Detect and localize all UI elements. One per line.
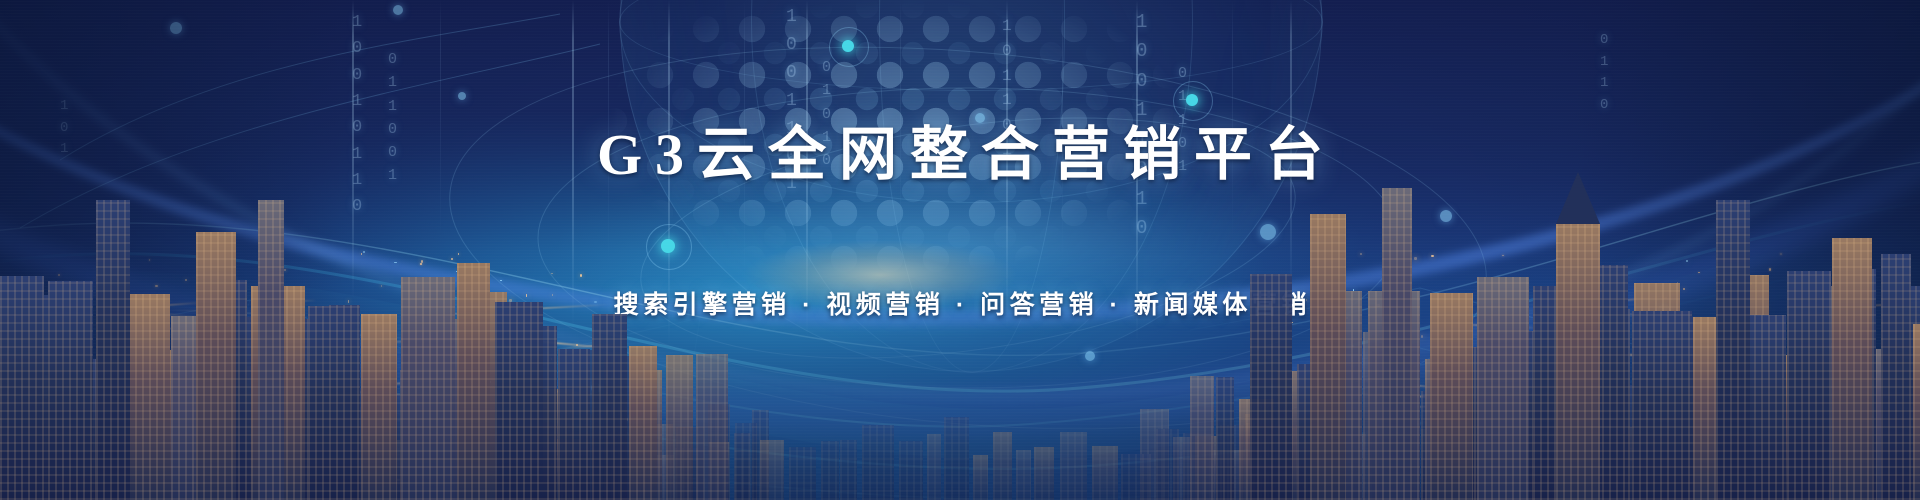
building-silhouette	[308, 306, 355, 500]
building-silhouette	[0, 276, 44, 500]
building-silhouette	[128, 294, 170, 500]
building-silhouette	[735, 423, 757, 500]
building-silhouette	[666, 355, 693, 500]
building-silhouette	[1092, 446, 1118, 500]
building-silhouette	[821, 441, 839, 500]
landmark-tower	[258, 200, 284, 500]
building-silhouette	[993, 432, 1012, 500]
building-silhouette	[927, 434, 941, 500]
landmark-tower	[1556, 224, 1600, 500]
building-silhouette	[1034, 447, 1054, 500]
building-silhouette	[457, 263, 490, 500]
landmark-tower	[1310, 214, 1346, 500]
building-silhouette	[1216, 377, 1234, 500]
building-silhouette	[760, 440, 784, 500]
building-silhouette	[1632, 311, 1692, 500]
building-silhouette	[1250, 274, 1292, 500]
building-silhouette	[558, 349, 590, 500]
building-silhouette	[899, 441, 923, 500]
landmark-tower	[1382, 188, 1412, 500]
building-silhouette	[1747, 315, 1786, 500]
hero-banner: 1 0 0 1 0 1 1 00 1 1 0 0 11 0 0 1 1 0 10…	[0, 0, 1920, 500]
building-silhouette	[840, 440, 857, 500]
landmark-tower	[96, 200, 130, 500]
building-silhouette	[1190, 376, 1214, 500]
building-silhouette	[1156, 429, 1179, 500]
building-silhouette	[1060, 432, 1087, 500]
building-silhouette	[973, 455, 988, 500]
spire-roof	[1556, 172, 1600, 224]
building-silhouette	[401, 277, 455, 500]
landmark-tower	[1716, 200, 1750, 500]
building-silhouette	[1881, 254, 1911, 500]
building-silhouette	[1016, 450, 1031, 500]
building-silhouette	[1430, 293, 1473, 500]
building-silhouette	[1913, 324, 1920, 500]
landmark-tower	[196, 232, 236, 500]
building-silhouette	[944, 417, 969, 500]
building-silhouette	[495, 302, 543, 500]
building-silhouette	[862, 425, 894, 500]
building-silhouette	[48, 281, 93, 500]
building-silhouette	[789, 447, 816, 500]
building-silhouette	[696, 354, 728, 500]
building-silhouette	[1477, 277, 1529, 500]
building-silhouette	[1121, 454, 1151, 500]
landmark-tower	[1832, 238, 1872, 500]
building-silhouette	[361, 314, 397, 500]
building-silhouette	[592, 314, 627, 500]
building-silhouette	[1787, 271, 1831, 500]
building-silhouette	[629, 346, 657, 500]
